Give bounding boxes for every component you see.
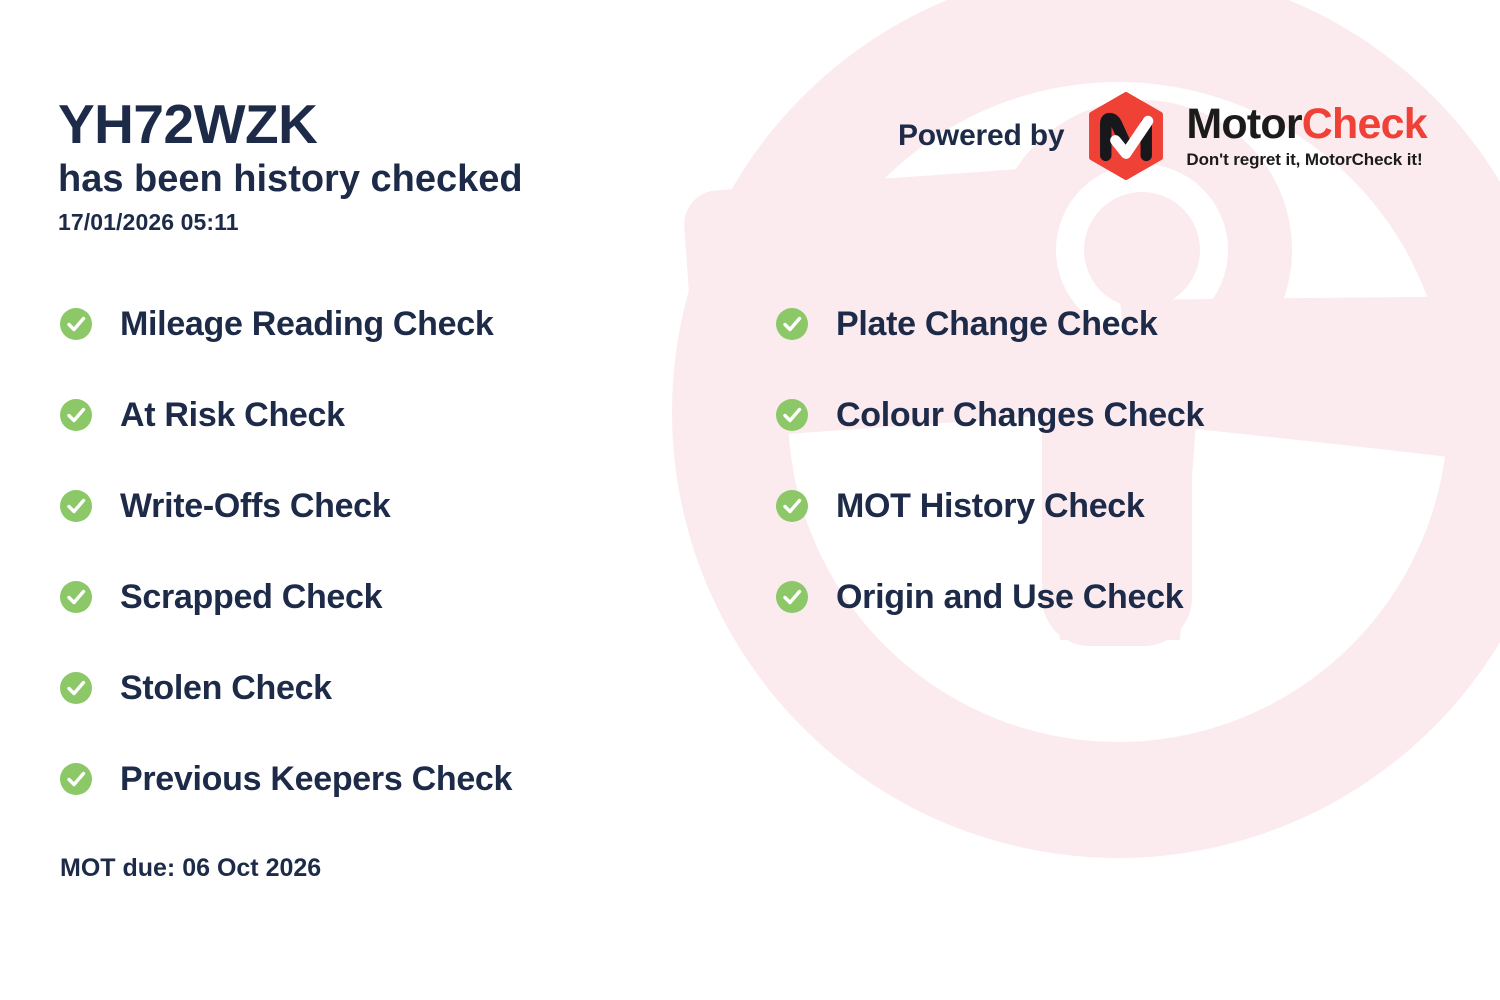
list-item: Write-Offs Check — [60, 482, 512, 530]
check-label: Previous Keepers Check — [120, 760, 512, 799]
motorcheck-hexagon-logo-icon — [1082, 92, 1170, 180]
check-circle-icon — [60, 399, 92, 431]
vehicle-header: YH72WZK has been history checked 17/01/2… — [58, 96, 758, 236]
check-label: Mileage Reading Check — [120, 305, 493, 344]
check-circle-icon — [60, 763, 92, 795]
wordmark-check: Check — [1302, 100, 1427, 148]
list-item: Previous Keepers Check — [60, 755, 512, 803]
brand-tagline: Don't regret it, MotorCheck it! — [1186, 150, 1426, 170]
check-circle-icon — [776, 308, 808, 340]
check-circle-icon — [60, 581, 92, 613]
check-label: Write-Offs Check — [120, 487, 390, 526]
check-timestamp: 17/01/2026 05:11 — [58, 209, 758, 236]
check-circle-icon — [776, 581, 808, 613]
list-item: Plate Change Check — [776, 300, 1204, 348]
check-label: At Risk Check — [120, 396, 345, 435]
check-circle-icon — [60, 672, 92, 704]
check-label: Origin and Use Check — [836, 578, 1183, 617]
brand-bar: Powered by MotorCheck Don't regret it, M… — [898, 92, 1427, 180]
check-circle-icon — [776, 490, 808, 522]
checks-left-column: Mileage Reading Check At Risk Check Writ… — [60, 300, 512, 846]
wordmark-motor: Motor — [1186, 100, 1301, 148]
check-label: Colour Changes Check — [836, 396, 1204, 435]
list-item: At Risk Check — [60, 391, 512, 439]
brand-wordmark: MotorCheck — [1186, 103, 1426, 146]
check-label: MOT History Check — [836, 487, 1145, 526]
list-item: Scrapped Check — [60, 573, 512, 621]
checks-right-column: Plate Change Check Colour Changes Check … — [776, 300, 1204, 664]
brand-wordmark-block: MotorCheck Don't regret it, MotorCheck i… — [1186, 103, 1426, 170]
mot-due-date: MOT due: 06 Oct 2026 — [60, 854, 321, 883]
check-label: Scrapped Check — [120, 578, 382, 617]
check-label: Stolen Check — [120, 669, 332, 708]
page-title: has been history checked — [58, 158, 758, 202]
registration-plate: YH72WZK — [58, 96, 758, 152]
check-circle-icon — [776, 399, 808, 431]
list-item: Mileage Reading Check — [60, 300, 512, 348]
list-item: Colour Changes Check — [776, 391, 1204, 439]
check-label: Plate Change Check — [836, 305, 1158, 344]
powered-by-label: Powered by — [898, 119, 1064, 153]
list-item: MOT History Check — [776, 482, 1204, 530]
card-content: YH72WZK has been history checked 17/01/2… — [0, 0, 1500, 1000]
list-item: Origin and Use Check — [776, 573, 1204, 621]
history-check-card: YH72WZK has been history checked 17/01/2… — [0, 0, 1500, 1000]
check-circle-icon — [60, 308, 92, 340]
check-circle-icon — [60, 490, 92, 522]
list-item: Stolen Check — [60, 664, 512, 712]
